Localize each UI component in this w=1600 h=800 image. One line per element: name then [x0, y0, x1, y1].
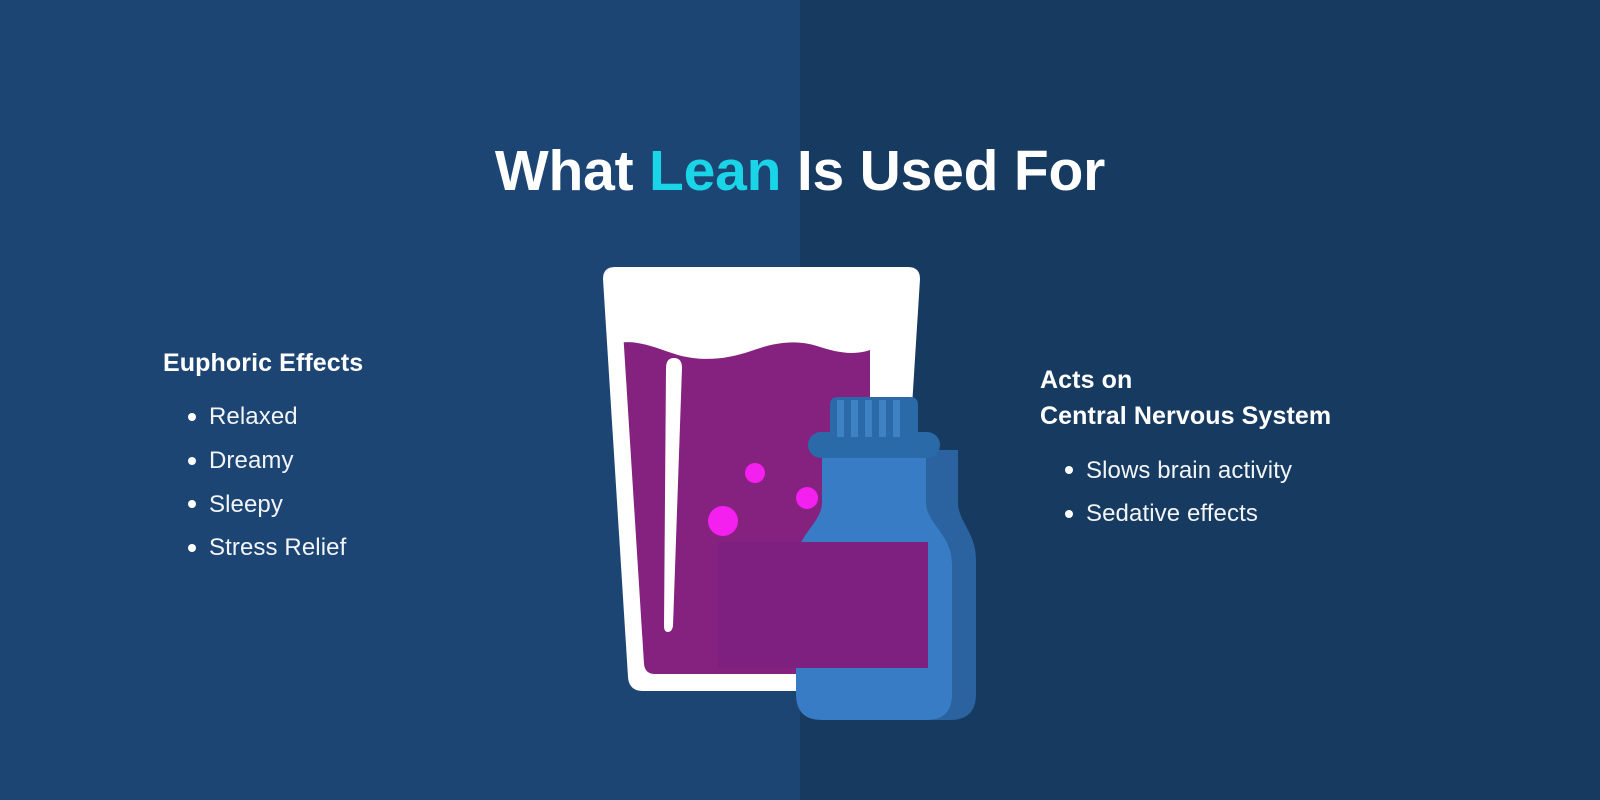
bubble-1 [745, 463, 765, 483]
title-part-1: What [495, 139, 649, 203]
central-nervous-system-panel: Acts on Central Nervous System Slows bra… [1040, 362, 1500, 536]
title-highlight-lean: Lean [649, 139, 781, 203]
title-part-2: Is Used For [781, 139, 1105, 203]
list-item: Dreamy [209, 439, 583, 483]
central-nervous-system-list: Slows brain activity Sedative effects [1040, 449, 1500, 536]
acts-on-heading-line-2: Central Nervous System [1040, 402, 1331, 430]
infographic-canvas: What Lean Is Used For Euphoric Effects R… [0, 0, 1600, 800]
bottle-label [718, 542, 928, 668]
list-item: Sedative effects [1086, 492, 1500, 536]
list-item: Slows brain activity [1086, 449, 1500, 493]
bubble-3 [796, 487, 818, 509]
lean-illustration [590, 250, 1010, 750]
list-item: Stress Relief [209, 526, 583, 570]
euphoric-effects-heading: Euphoric Effects [163, 345, 583, 381]
list-item: Sleepy [209, 483, 583, 527]
euphoric-effects-list: Relaxed Dreamy Sleepy Stress Relief [163, 395, 583, 570]
acts-on-heading: Acts on Central Nervous System [1040, 362, 1500, 435]
acts-on-heading-line-1: Acts on [1040, 366, 1132, 394]
list-item: Relaxed [209, 395, 583, 439]
bubble-2 [708, 506, 738, 536]
page-title: What Lean Is Used For [0, 138, 1600, 204]
euphoric-effects-panel: Euphoric Effects Relaxed Dreamy Sleepy S… [163, 345, 583, 570]
